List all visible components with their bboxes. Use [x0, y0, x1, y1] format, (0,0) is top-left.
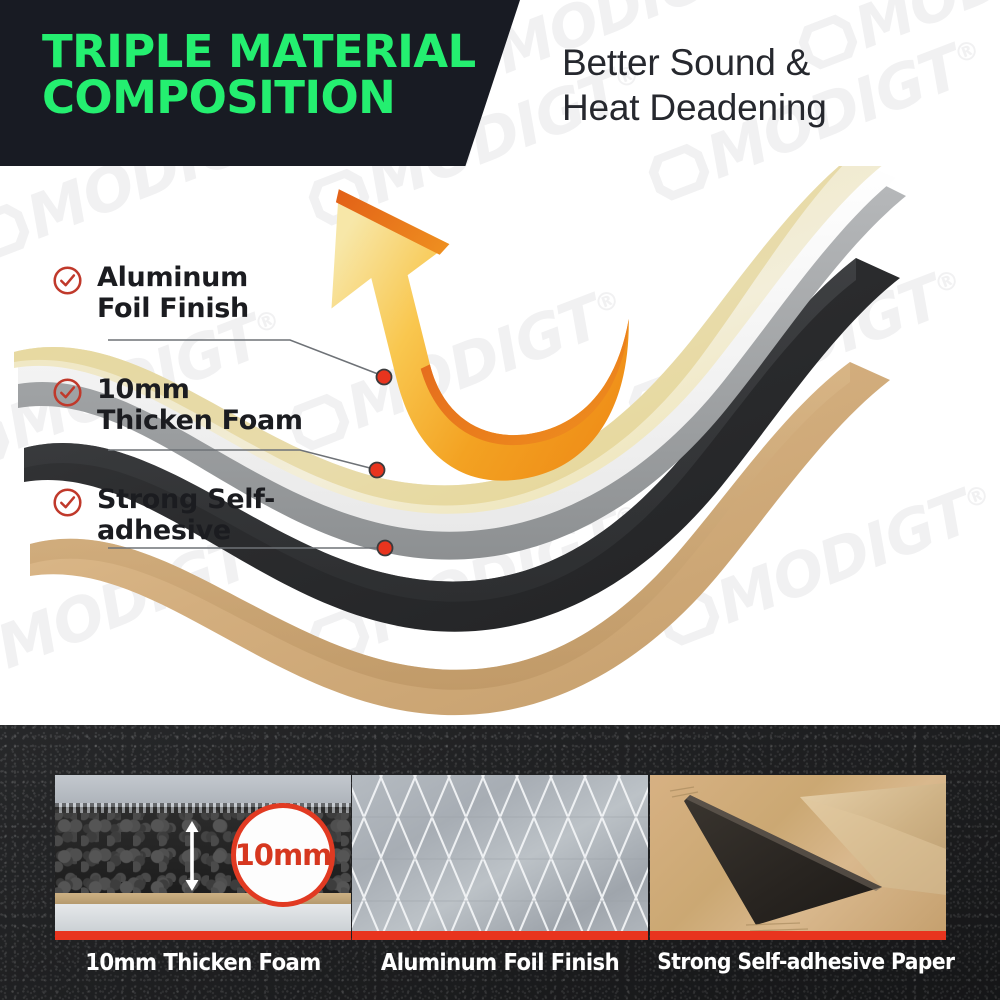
infographic-page: MODIGT® MODIGT® MODIGT® MODIGT® MODIGT® … — [0, 0, 1000, 1000]
header-subtitle-line2: Heat Deadening — [562, 85, 827, 130]
feature-item-thicken-foam[interactable]: 10mm Thicken Foam — [52, 374, 303, 437]
thumbnail-caption-foil: Aluminum Foil Finish — [364, 950, 636, 976]
feature-label: Strong Self- adhesive — [97, 484, 275, 547]
feature-list: Aluminum Foil Finish 10mm Thicken Foam S… — [0, 166, 420, 596]
detail-panel: 10mm — [0, 725, 1000, 1000]
thumbnail-adhesive[interactable] — [650, 775, 946, 940]
thickness-badge-label: 10mm — [235, 838, 332, 872]
peel-illustration — [650, 775, 946, 940]
foam-base-sheet — [55, 904, 351, 931]
thumbnail-caption-adhesive: Strong Self-adhesive Paper — [657, 950, 939, 975]
feature-label: Aluminum Foil Finish — [97, 262, 249, 325]
thickness-badge: 10mm — [231, 803, 335, 907]
thumbnail-foam[interactable]: 10mm — [55, 775, 351, 940]
thumbnail-caption-foam: 10mm Thicken Foam — [67, 950, 339, 976]
check-circle-icon — [52, 377, 83, 408]
header-subtitle: Better Sound & Heat Deadening — [562, 40, 827, 130]
thumbnail-accent-bar — [352, 931, 648, 940]
header-subtitle-line1: Better Sound & — [562, 40, 827, 85]
feature-item-aluminum-foil[interactable]: Aluminum Foil Finish — [52, 262, 249, 325]
thumbnail-foil[interactable] — [352, 775, 648, 940]
page-title: TRIPLE MATERIAL COMPOSITION — [42, 29, 482, 121]
feature-label: 10mm Thicken Foam — [97, 374, 303, 437]
foil-lattice-pattern — [352, 775, 648, 940]
thickness-arrow-icon — [183, 819, 201, 893]
feature-item-self-adhesive[interactable]: Strong Self- adhesive — [52, 484, 275, 547]
check-circle-icon — [52, 487, 83, 518]
thumbnail-accent-bar — [55, 931, 351, 940]
thumbnail-accent-bar — [650, 931, 946, 940]
page-title-line2: COMPOSITION — [42, 75, 482, 121]
check-circle-icon — [52, 265, 83, 296]
